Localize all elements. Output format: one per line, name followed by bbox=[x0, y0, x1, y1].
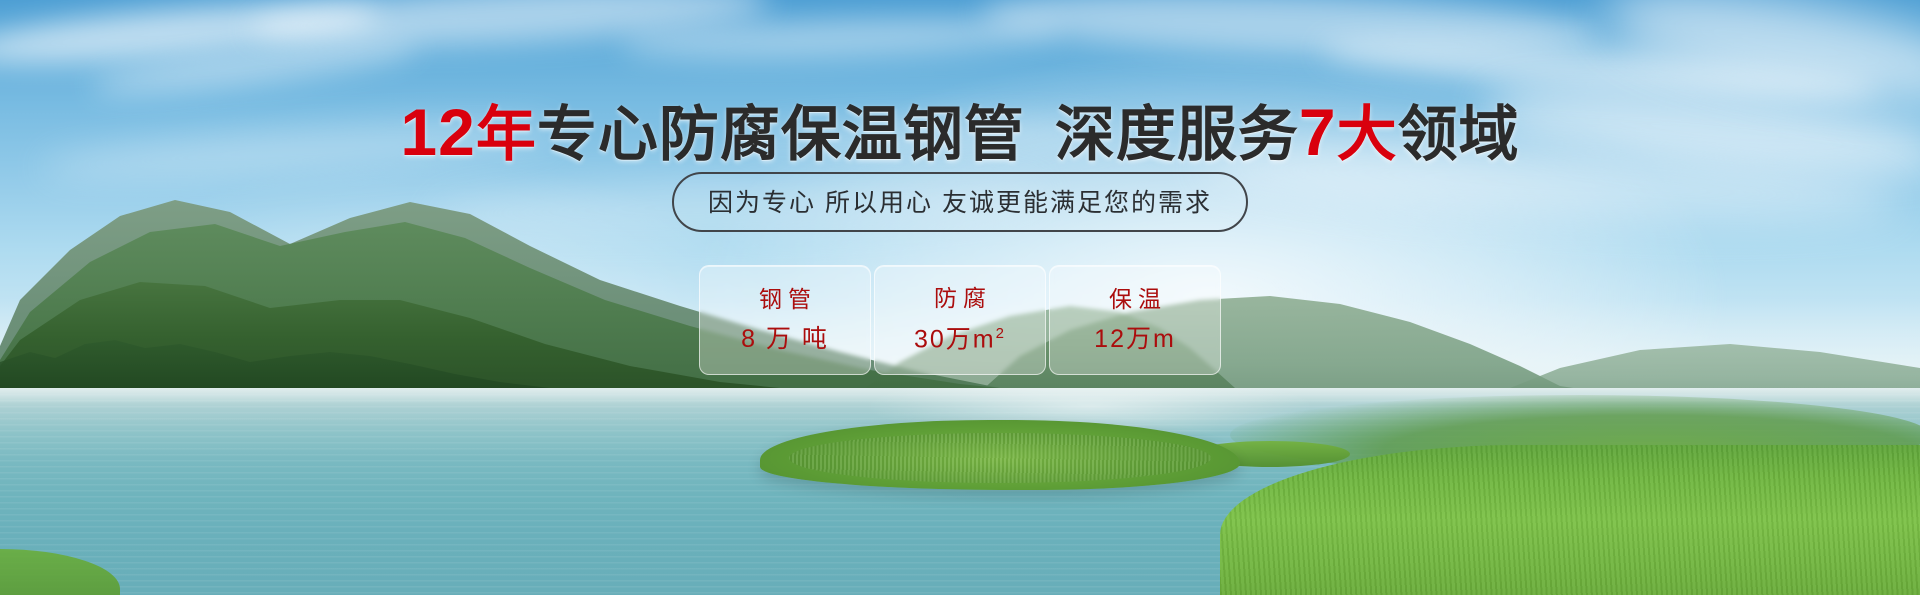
stat-card-value: 12万m bbox=[1094, 327, 1176, 352]
stat-card-value-text: 12万m bbox=[1094, 325, 1176, 353]
stat-cards: 钢管 8 万 吨 防腐 30万m2 保温 12万m bbox=[0, 265, 1920, 375]
stat-card-value-superscript: 2 bbox=[996, 325, 1006, 342]
stat-card-insulation[interactable]: 保温 12万m bbox=[1049, 265, 1221, 375]
stat-card-anticorrosion[interactable]: 防腐 30万m2 bbox=[874, 265, 1046, 375]
banner-content: 12年专心防腐保温钢管深度服务7大领域 因为专心 所以用心 友诚更能满足您的需求… bbox=[0, 0, 1920, 595]
headline-middle: 专心防腐保温钢管 bbox=[537, 101, 1025, 168]
headline-tail: 领域 bbox=[1398, 101, 1520, 168]
subtitle-container: 因为专心 所以用心 友诚更能满足您的需求 bbox=[0, 172, 1920, 232]
stat-card-value-text: 30万m bbox=[914, 326, 996, 354]
headline-years-number: 12 bbox=[400, 95, 475, 169]
stat-card-value-text: 8 万 吨 bbox=[741, 325, 829, 353]
headline-fields-char: 大 bbox=[1337, 101, 1398, 168]
headline: 12年专心防腐保温钢管深度服务7大领域 bbox=[0, 86, 1920, 173]
stat-card-label: 保温 bbox=[1103, 288, 1167, 311]
headline-years-suffix: 年 bbox=[476, 101, 537, 168]
subtitle-pill: 因为专心 所以用心 友诚更能满足您的需求 bbox=[672, 172, 1248, 232]
promo-banner: 12年专心防腐保温钢管深度服务7大领域 因为专心 所以用心 友诚更能满足您的需求… bbox=[0, 0, 1920, 595]
headline-fields-number: 7 bbox=[1299, 95, 1337, 169]
stat-card-value: 8 万 吨 bbox=[741, 327, 829, 352]
stat-card-label: 钢管 bbox=[753, 288, 817, 311]
headline-second: 深度服务 bbox=[1055, 101, 1299, 168]
stat-card-value: 30万m2 bbox=[914, 326, 1006, 352]
stat-card-steel-pipe[interactable]: 钢管 8 万 吨 bbox=[699, 265, 871, 375]
stat-card-label: 防腐 bbox=[928, 287, 992, 310]
